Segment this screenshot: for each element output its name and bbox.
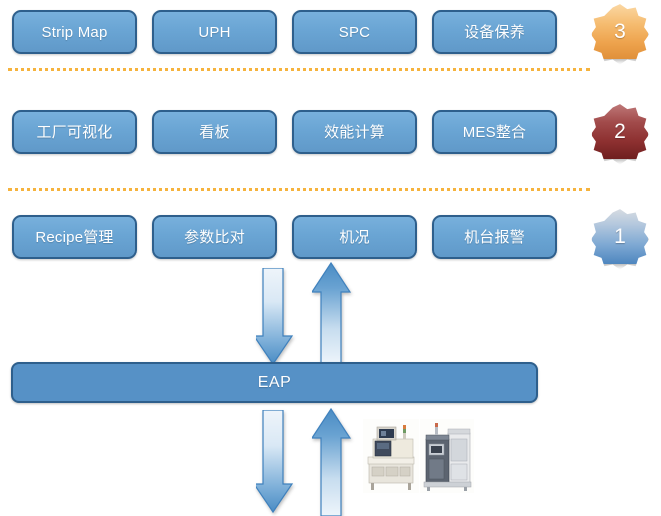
capability-uph[interactable]: UPH [152,10,277,54]
capability-recipe-management[interactable]: Recipe管理 [12,215,137,259]
level-3-badge: 3 [592,3,648,59]
capability-label: 机况 [339,230,369,245]
capability-strip-map[interactable]: Strip Map [12,10,137,54]
capability-performance-calculation[interactable]: 效能计算 [292,110,417,154]
capability-label: 机台报警 [464,230,525,245]
arrow-down-to-eap [256,268,294,366]
capability-factory-visualization[interactable]: 工厂可视化 [12,110,137,154]
capability-mes-integration[interactable]: MES整合 [432,110,557,154]
capability-machine-alarm[interactable]: 机台报警 [432,215,557,259]
separator-line-top [8,68,590,71]
capability-label: Strip Map [42,25,108,40]
capability-equipment-maintenance[interactable]: 设备保养 [432,10,557,54]
arrow-up-from-equipment [312,408,352,516]
level-number: 2 [614,121,626,142]
diagram-canvas: Strip Map UPH SPC 设备保养 3 工厂可视化 看板 效能计算 M… [0,0,661,516]
capability-label: MES整合 [463,125,527,140]
capability-spc[interactable]: SPC [292,10,417,54]
arrow-down-to-equipment [256,410,294,514]
capability-label: SPC [339,25,370,40]
level-2-badge: 2 [592,103,648,159]
capability-label: 设备保养 [464,25,525,40]
level-1-badge: 1 [592,208,648,264]
arrow-up-from-eap [312,262,352,366]
eap-label: EAP [258,374,292,392]
capability-label: Recipe管理 [35,230,113,245]
level-number: 1 [614,226,626,247]
capability-label: 效能计算 [324,125,385,140]
capability-label: 工厂可视化 [36,125,112,140]
machine-inspection-photo [363,419,419,493]
capability-label: 参数比对 [184,230,245,245]
capability-label: 看板 [199,125,229,140]
capability-machine-status[interactable]: 机况 [292,215,417,259]
separator-line-middle [8,188,590,191]
machine-tool-photo [420,419,474,493]
capability-dashboard[interactable]: 看板 [152,110,277,154]
eap-bar[interactable]: EAP [11,362,538,403]
capability-label: UPH [198,25,230,40]
level-number: 3 [614,21,626,42]
capability-parameter-comparison[interactable]: 参数比对 [152,215,277,259]
